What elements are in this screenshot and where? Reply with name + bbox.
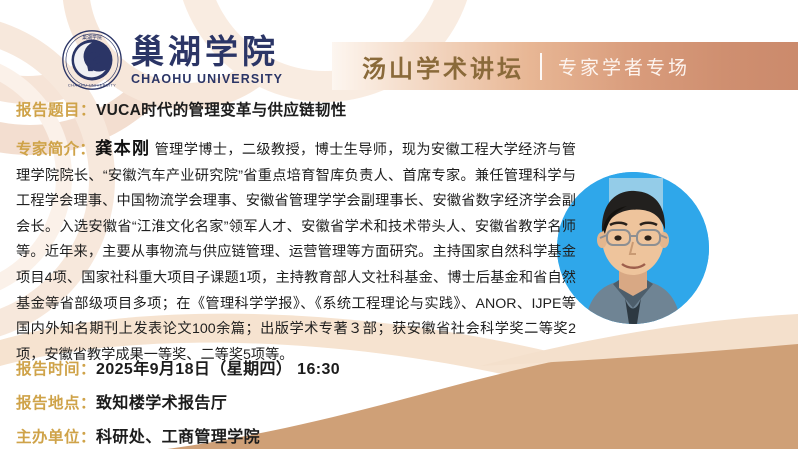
portrait-image [557,172,709,324]
poster-root: 巢湖学院 CHAOHU UNIVERSITY 巢湖学院 CHAOHU UNIVE… [0,0,798,449]
report-organizer-value: 科研处、工商管理学院 [96,423,260,447]
report-title-row: 报告题目： VUCA时代的管理变革与供应链韧性 [16,98,347,120]
speaker-portrait [557,172,709,324]
report-place-label: 报告地点： [16,391,96,413]
report-title-label: 报告题目： [16,98,96,120]
report-title-value: VUCA时代的管理变革与供应链韧性 [96,98,347,120]
report-time-label: 报告时间： [16,357,96,379]
speaker-name: 龚本刚 [95,139,150,158]
speaker-bio-label: 专家简介： [16,141,95,158]
report-place-value: 致知楼学术报告厅 [96,389,227,413]
report-organizer-row: 主办单位： 科研处、工商管理学院 [16,423,260,447]
speaker-bio-text: 管理学博士，二级教授，博士生导师，现为安徽工程大学经济与管理学院院长、“安徽汽车… [16,142,576,363]
poster-content: 报告题目： VUCA时代的管理变革与供应链韧性 [0,0,798,449]
report-time-row: 报告时间： 2025年9月18日（星期四） 16:30 [16,355,340,379]
report-organizer-label: 主办单位： [16,425,96,447]
report-place-row: 报告地点： 致知楼学术报告厅 [16,389,227,413]
report-time-value: 2025年9月18日（星期四） 16:30 [96,355,340,379]
